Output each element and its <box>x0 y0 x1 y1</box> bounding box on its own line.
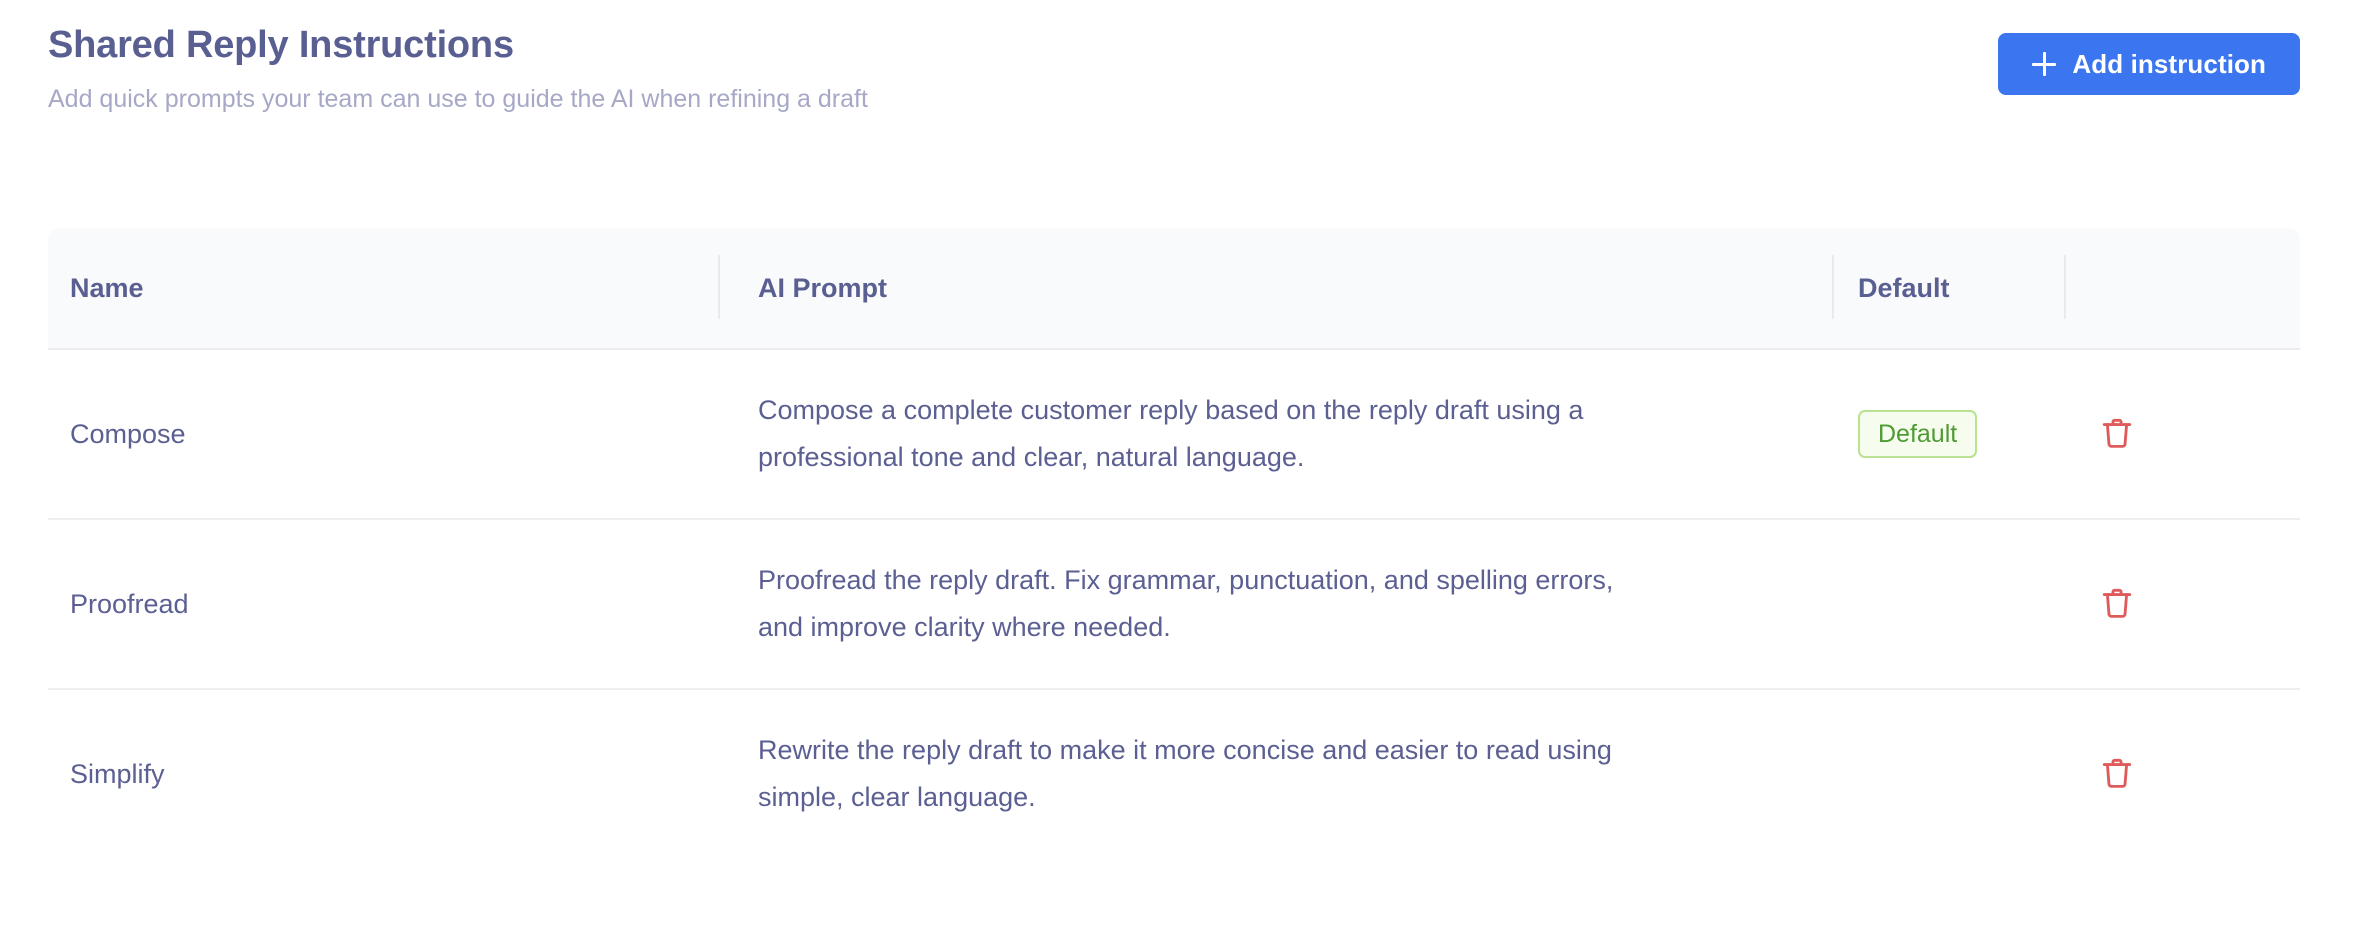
instruction-name: Proofread <box>70 589 189 620</box>
cell-default <box>1832 690 2064 858</box>
delete-instruction-button[interactable] <box>2094 411 2140 457</box>
cell-default: Default <box>1832 350 2064 518</box>
instruction-name: Simplify <box>70 759 165 790</box>
cell-ai-prompt: Rewrite the reply draft to make it more … <box>718 690 1832 858</box>
delete-instruction-button[interactable] <box>2094 751 2140 797</box>
table-row[interactable]: Compose Compose a complete customer repl… <box>48 350 2300 520</box>
cell-actions <box>2064 690 2300 858</box>
table-row[interactable]: Proofread Proofread the reply draft. Fix… <box>48 520 2300 690</box>
column-header-default: Default <box>1832 228 2064 348</box>
add-instruction-label: Add instruction <box>2072 49 2266 80</box>
instruction-prompt: Proofread the reply draft. Fix grammar, … <box>758 557 1663 651</box>
page-title: Shared Reply Instructions <box>48 22 2300 68</box>
trash-icon <box>2099 755 2135 793</box>
cell-name: Proofread <box>48 520 718 688</box>
table-row[interactable]: Simplify Rewrite the reply draft to make… <box>48 690 2300 858</box>
cell-ai-prompt: Proofread the reply draft. Fix grammar, … <box>718 520 1832 688</box>
cell-ai-prompt: Compose a complete customer reply based … <box>718 350 1832 518</box>
status-badge: Default <box>1858 410 1977 458</box>
cell-name: Simplify <box>48 690 718 858</box>
trash-icon <box>2099 415 2135 453</box>
column-header-ai-prompt: AI Prompt <box>718 228 1832 348</box>
page-header: Shared Reply Instructions Add quick prom… <box>48 22 2300 132</box>
column-header-name: Name <box>48 228 718 348</box>
instruction-prompt: Rewrite the reply draft to make it more … <box>758 727 1663 821</box>
trash-icon <box>2099 585 2135 623</box>
page-subtitle: Add quick prompts your team can use to g… <box>48 84 2300 114</box>
instruction-name: Compose <box>70 419 186 450</box>
table-header-row: Name AI Prompt Default <box>48 228 2300 350</box>
cell-actions <box>2064 520 2300 688</box>
plus-icon <box>2032 52 2056 76</box>
add-instruction-button[interactable]: Add instruction <box>1998 33 2300 95</box>
shared-reply-instructions-page: Shared Reply Instructions Add quick prom… <box>0 0 2364 926</box>
cell-name: Compose <box>48 350 718 518</box>
instructions-table: Name AI Prompt Default Compose Compose a… <box>48 228 2300 858</box>
delete-instruction-button[interactable] <box>2094 581 2140 627</box>
cell-actions <box>2064 350 2300 518</box>
column-header-actions <box>2064 228 2300 348</box>
instruction-prompt: Compose a complete customer reply based … <box>758 387 1663 481</box>
cell-default <box>1832 520 2064 688</box>
